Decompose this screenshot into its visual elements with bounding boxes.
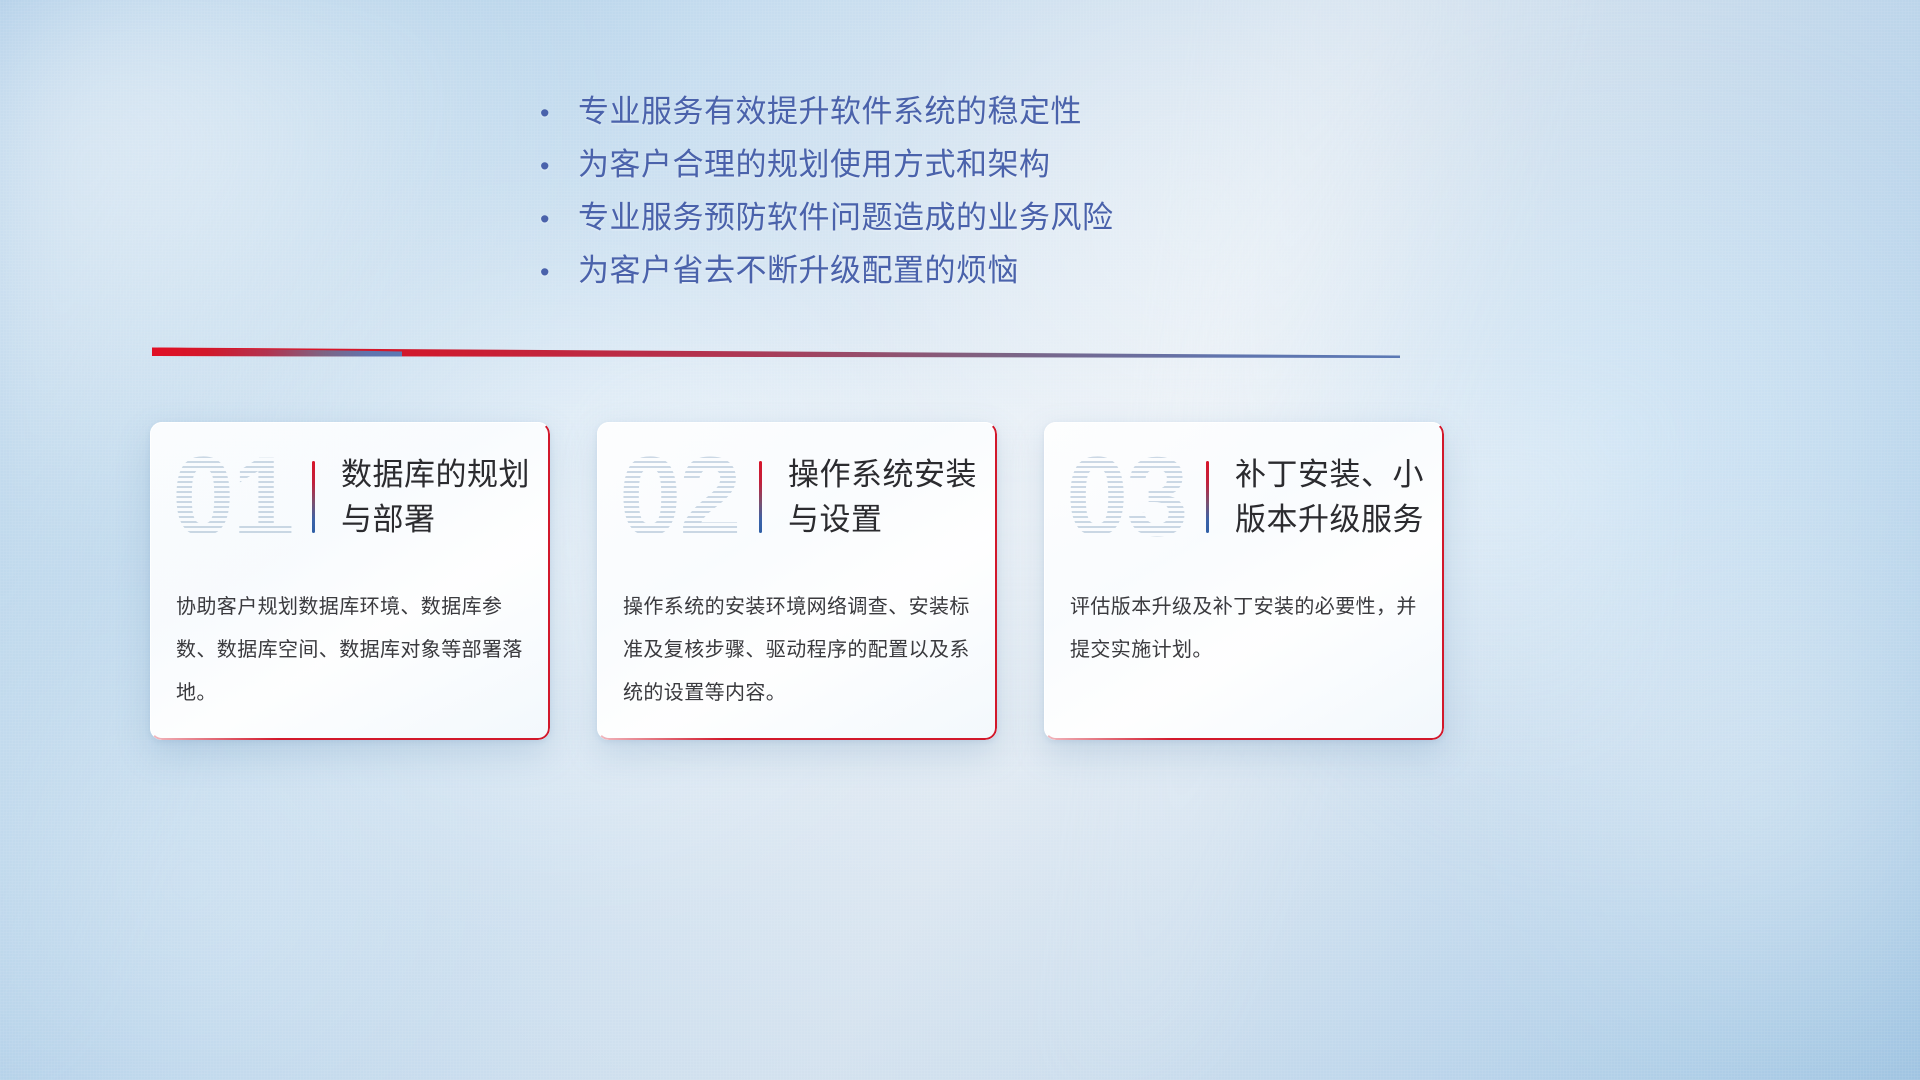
card-body-text: 协助客户规划数据库环境、数据库参数、数据库空间、数据库对象等部署落地。 [150,572,550,715]
card-body-text: 操作系统的安装环境网络调查、安装标准及复核步骤、驱动程序的配置以及系统的设置等内… [597,572,997,715]
bullet-dot-icon: • [540,87,578,139]
list-item: • 专业服务预防软件问题造成的业务风险 [540,192,1540,245]
bullet-dot-icon: • [540,140,578,192]
divider-wedge-icon [152,345,1400,367]
card-title-divider [759,461,762,533]
service-card[interactable]: 03 补丁安装、小版本升级服务 评估版本升级及补丁安装的必要性，并提交实施计划。 [1044,422,1444,740]
list-item-label: 为客户省去不断升级配置的烦恼 [578,245,1540,297]
service-card[interactable]: 01 数据库的规划与部署 协助客户规划数据库环境、数据库参数、数据库空间、数据库… [150,422,550,740]
card-title-divider [1206,461,1209,533]
card-header: 02 操作系统安装与设置 [597,422,997,572]
card-header: 01 数据库的规划与部署 [150,422,550,572]
card-title-divider [312,461,315,533]
service-card-group: 01 数据库的规划与部署 协助客户规划数据库环境、数据库参数、数据库空间、数据库… [150,422,1444,740]
section-divider [152,345,1400,367]
card-title: 补丁安装、小版本升级服务 [1235,452,1426,542]
service-card[interactable]: 02 操作系统安装与设置 操作系统的安装环境网络调查、安装标准及复核步骤、驱动程… [597,422,997,740]
bullet-dot-icon: • [540,246,578,298]
list-item: • 为客户合理的规划使用方式和架构 [540,139,1540,192]
list-item: • 专业服务有效提升软件系统的稳定性 [540,86,1540,139]
card-body-text: 评估版本升级及补丁安装的必要性，并提交实施计划。 [1044,572,1444,672]
card-number-watermark: 01 [172,441,304,553]
card-number-watermark: 02 [619,441,751,553]
list-item-label: 专业服务预防软件问题造成的业务风险 [578,192,1540,244]
card-title: 数据库的规划与部署 [341,452,532,542]
bullet-dot-icon: • [540,193,578,245]
list-item-label: 为客户合理的规划使用方式和架构 [578,139,1540,191]
list-item-label: 专业服务有效提升软件系统的稳定性 [578,86,1540,138]
card-number-watermark: 03 [1066,441,1198,553]
benefits-bullet-list: • 专业服务有效提升软件系统的稳定性 • 为客户合理的规划使用方式和架构 • 专… [540,86,1540,298]
list-item: • 为客户省去不断升级配置的烦恼 [540,245,1540,298]
card-title: 操作系统安装与设置 [788,452,979,542]
card-header: 03 补丁安装、小版本升级服务 [1044,422,1444,572]
